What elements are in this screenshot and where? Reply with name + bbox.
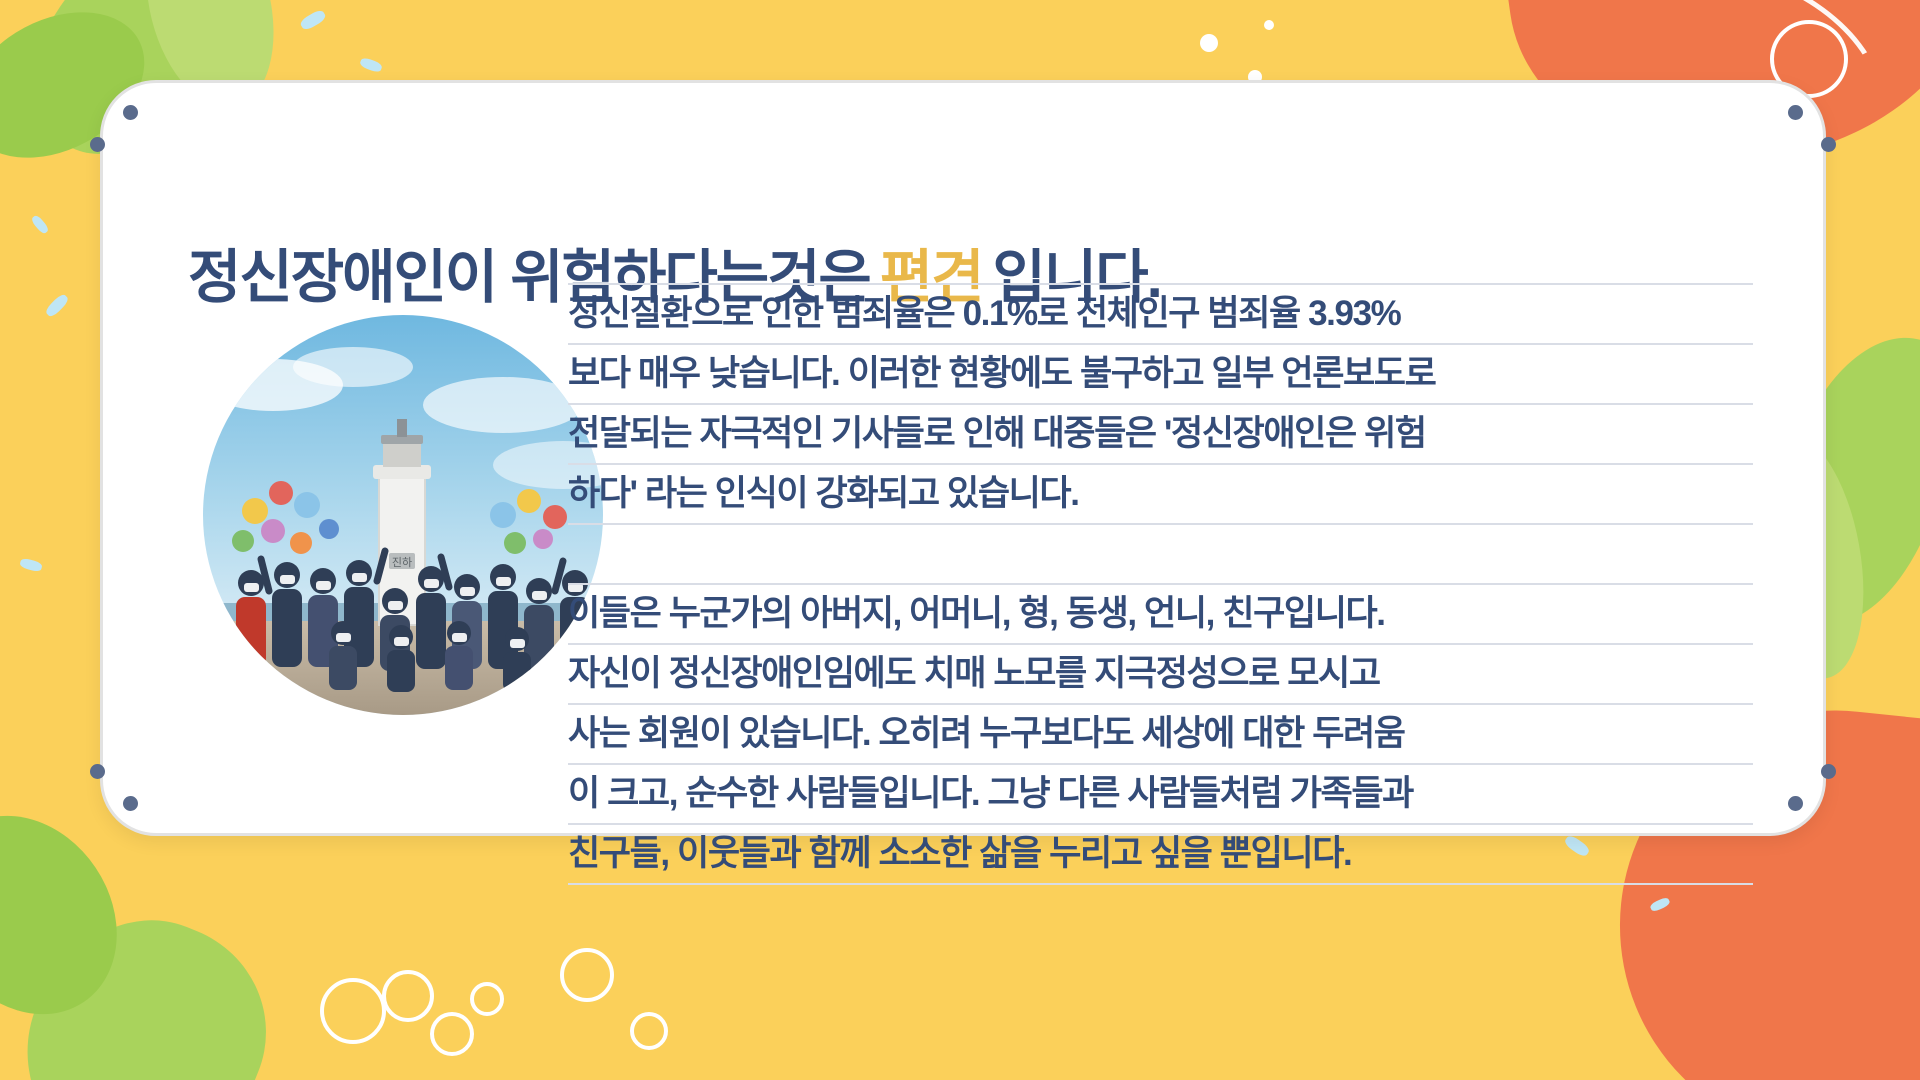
body-text-column: 정신질환으로 인한 범죄율은 0.1%로 전체인구 범죄율 3.93% 보다 매… <box>568 283 1753 885</box>
white-ring <box>430 1012 474 1056</box>
group-photo: 진하 <box>203 315 603 715</box>
confetti-fleck <box>359 57 383 74</box>
poster-card: 정신장애인이 위험하다는것은편견입니다. <box>100 80 1826 836</box>
white-dot <box>1264 20 1274 30</box>
white-ring <box>382 970 434 1022</box>
text-line: 정신질환으로 인한 범죄율은 0.1%로 전체인구 범죄율 3.93% <box>568 283 1753 343</box>
screw-dot-icon <box>1821 764 1836 779</box>
text-line: 친구들, 이웃들과 함께 소소한 삶을 누리고 싶을 뿐입니다. <box>568 823 1753 885</box>
paragraph-spacer <box>568 525 1753 583</box>
text-line: 사는 회원이 있습니다. 오히려 누구보다도 세상에 대한 두려움 <box>568 703 1753 763</box>
confetti-fleck <box>30 214 50 235</box>
paragraph-1: 정신질환으로 인한 범죄율은 0.1%로 전체인구 범죄율 3.93% 보다 매… <box>568 283 1753 525</box>
text-line: 자신이 정신장애인임에도 치매 노모를 지극정성으로 모시고 <box>568 643 1753 703</box>
screw-dot-icon <box>1821 137 1836 152</box>
text-line: 전달되는 자극적인 기사들로 인해 대중들은 '정신장애인은 위험 <box>568 403 1753 463</box>
screw-dot-icon <box>90 764 105 779</box>
text-line: 보다 매우 낮습니다. 이러한 현황에도 불구하고 일부 언론보도로 <box>568 343 1753 403</box>
confetti-fleck <box>44 292 70 318</box>
text-line: 이 크고, 순수한 사람들입니다. 그냥 다른 사람들처럼 가족들과 <box>568 763 1753 823</box>
text-line: 하다' 라는 인식이 강화되고 있습니다. <box>568 463 1753 525</box>
confetti-fleck <box>19 557 43 572</box>
paragraph-2: 이들은 누군가의 아버지, 어머니, 형, 동생, 언니, 친구입니다. 자신이… <box>568 583 1753 885</box>
text-line: 이들은 누군가의 아버지, 어머니, 형, 동생, 언니, 친구입니다. <box>568 583 1753 643</box>
white-ring <box>320 978 386 1044</box>
screw-dot-icon <box>90 137 105 152</box>
confetti-fleck <box>299 8 328 31</box>
screw-dot-icon <box>1788 105 1803 120</box>
screw-dot-icon <box>123 105 138 120</box>
white-ring <box>470 982 504 1016</box>
white-dot <box>1200 34 1218 52</box>
svg-text:진하: 진하 <box>392 555 412 569</box>
white-ring <box>560 948 614 1002</box>
screw-dot-icon <box>123 796 138 811</box>
screw-dot-icon <box>1788 796 1803 811</box>
group-photo-illustration: 진하 <box>203 315 603 715</box>
white-ring <box>630 1012 668 1050</box>
